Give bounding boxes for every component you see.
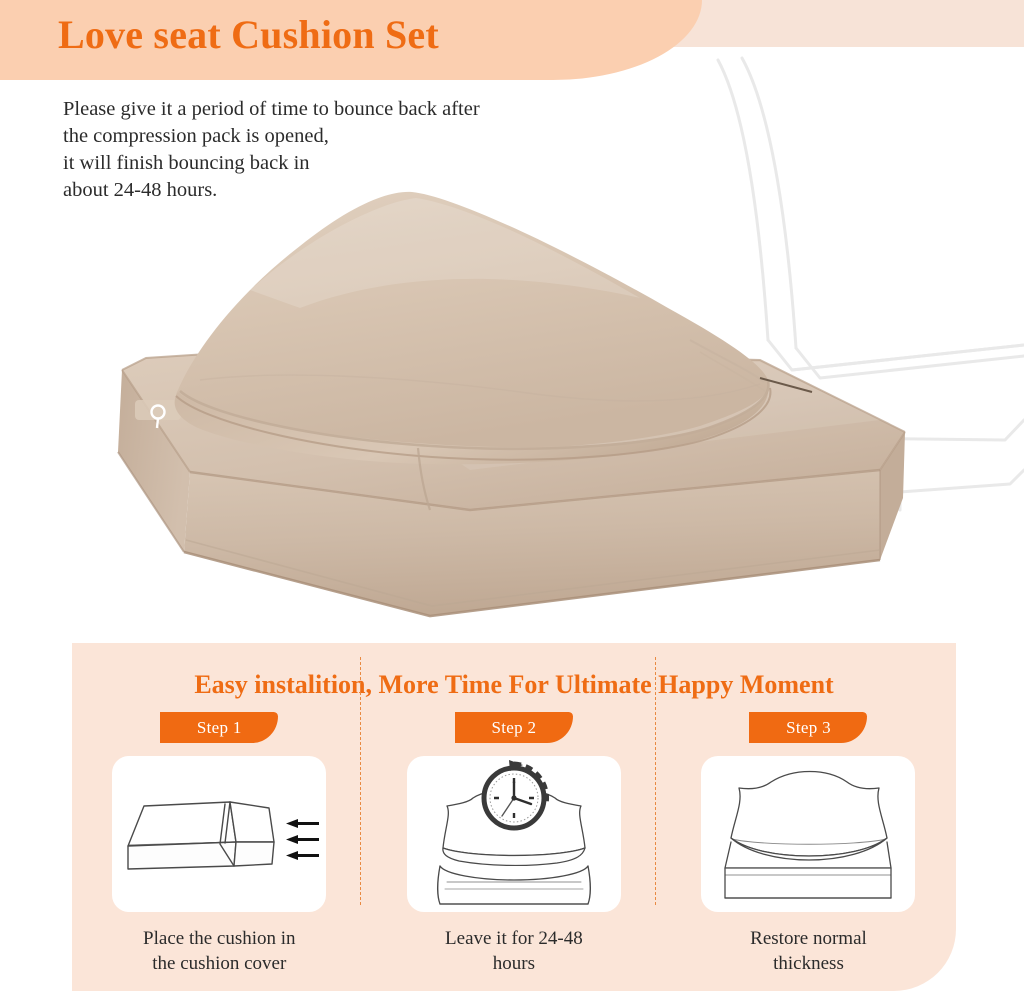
step-1-caption: Place the cushion in the cushion cover bbox=[104, 926, 334, 976]
infographic-page: Love seat Cushion Set Please give it a p… bbox=[0, 0, 1024, 1007]
restored-cushion-icon bbox=[701, 756, 915, 912]
step-2-card bbox=[407, 756, 621, 912]
step-3-badge: Step 3 bbox=[749, 712, 867, 743]
step-2-caption-line-2: hours bbox=[399, 951, 629, 976]
step-2-caption-line-1: Leave it for 24-48 bbox=[399, 926, 629, 951]
clock-over-cushion-icon bbox=[407, 756, 621, 912]
hero-illustration bbox=[0, 40, 1024, 640]
step-2-caption: Leave it for 24-48 hours bbox=[399, 926, 629, 976]
step-3: Step 3 bbox=[661, 712, 956, 991]
step-2: Step 2 bbox=[367, 712, 662, 991]
push-arrows-icon bbox=[286, 819, 319, 860]
steps-row: Step 1 bbox=[72, 712, 956, 991]
installation-panel: Easy instalition, More Time For Ultimate… bbox=[72, 643, 956, 991]
hero-product-photo bbox=[0, 40, 1024, 640]
step-2-badge: Step 2 bbox=[455, 712, 573, 743]
step-3-caption: Restore normal thickness bbox=[693, 926, 923, 976]
cushion-into-cover-icon bbox=[112, 756, 326, 912]
clock-icon bbox=[484, 760, 547, 828]
step-1-caption-line-1: Place the cushion in bbox=[104, 926, 334, 951]
step-3-caption-line-1: Restore normal bbox=[693, 926, 923, 951]
step-1-badge: Step 1 bbox=[160, 712, 278, 743]
step-1-caption-line-2: the cushion cover bbox=[104, 951, 334, 976]
step-3-caption-line-2: thickness bbox=[693, 951, 923, 976]
step-3-card bbox=[701, 756, 915, 912]
step-1-card bbox=[112, 756, 326, 912]
step-1: Step 1 bbox=[72, 712, 367, 991]
panel-heading: Easy instalition, More Time For Ultimate… bbox=[72, 670, 956, 700]
